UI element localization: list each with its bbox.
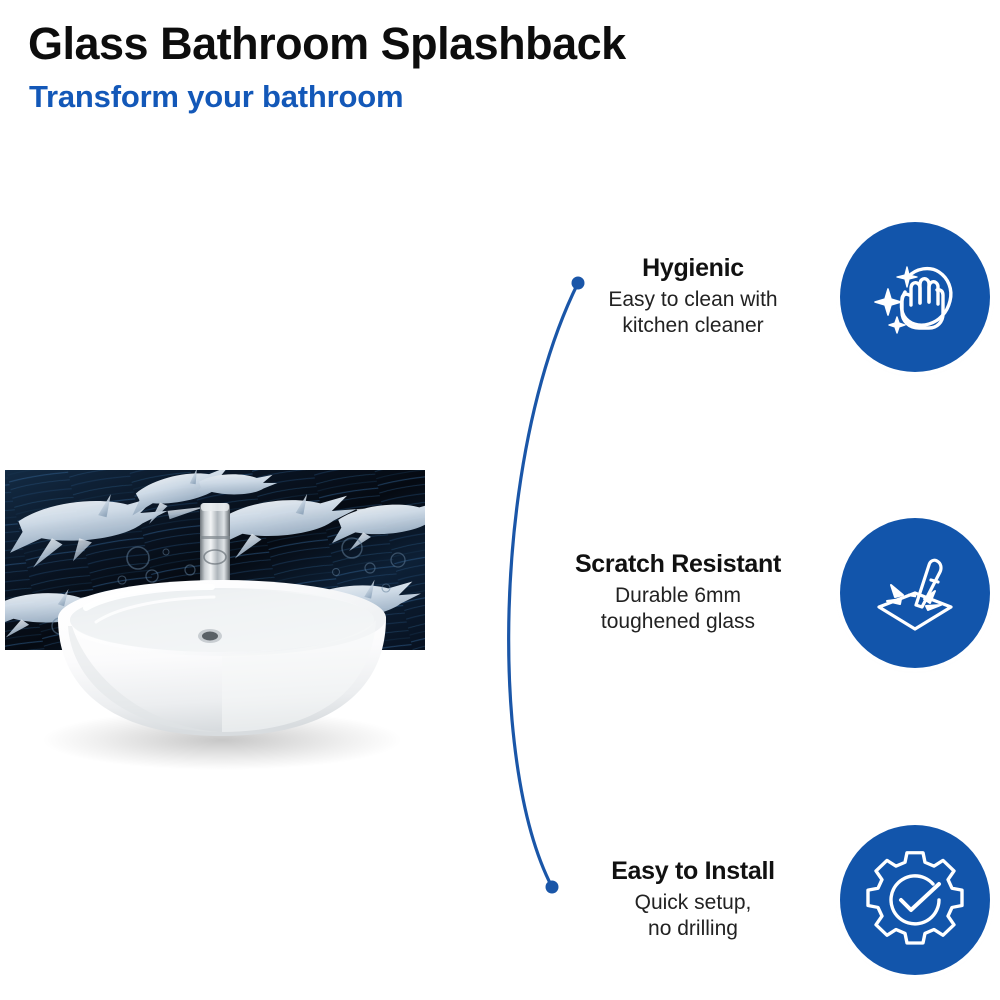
feature-easy-to-install-text: Easy to Install Quick setup, no drilling — [560, 857, 840, 944]
page-subtitle: Transform your bathroom — [29, 80, 403, 114]
gear-checkmark-icon[interactable] — [840, 825, 990, 975]
feature-hygienic-desc-line-2: kitchen cleaner — [560, 313, 826, 340]
product-image — [0, 440, 440, 780]
feature-scratch-resistant-title: Scratch Resistant — [530, 550, 826, 579]
feature-scratch-resistant-desc-line-2: toughened glass — [530, 609, 826, 636]
feature-hygienic-text: Hygienic Easy to clean with kitchen clea… — [560, 254, 840, 341]
infographic-canvas: Glass Bathroom Splashback Transform your… — [0, 0, 1000, 1000]
connector-dot-bottom — [546, 881, 559, 894]
feature-easy-to-install-desc-line-1: Quick setup, — [560, 890, 826, 917]
page-title: Glass Bathroom Splashback — [28, 20, 626, 69]
feature-easy-to-install-title: Easy to Install — [560, 857, 826, 886]
basin — [42, 580, 402, 770]
feature-hygienic-title: Hygienic — [560, 254, 826, 283]
hand-wiping-sparkle-icon[interactable] — [840, 222, 990, 372]
feature-hygienic-desc-line-1: Easy to clean with — [560, 287, 826, 314]
feature-hygienic[interactable]: Hygienic Easy to clean with kitchen clea… — [560, 222, 990, 372]
feature-easy-to-install[interactable]: Easy to Install Quick setup, no drilling — [560, 825, 990, 975]
feature-scratch-resistant-desc-line-1: Durable 6mm — [530, 583, 826, 610]
pen-scratching-surface-icon[interactable] — [840, 518, 990, 668]
feature-scratch-resistant[interactable]: Scratch Resistant Durable 6mm toughened … — [530, 518, 990, 668]
feature-easy-to-install-desc-line-2: no drilling — [560, 916, 826, 943]
feature-scratch-resistant-text: Scratch Resistant Durable 6mm toughened … — [530, 550, 840, 637]
